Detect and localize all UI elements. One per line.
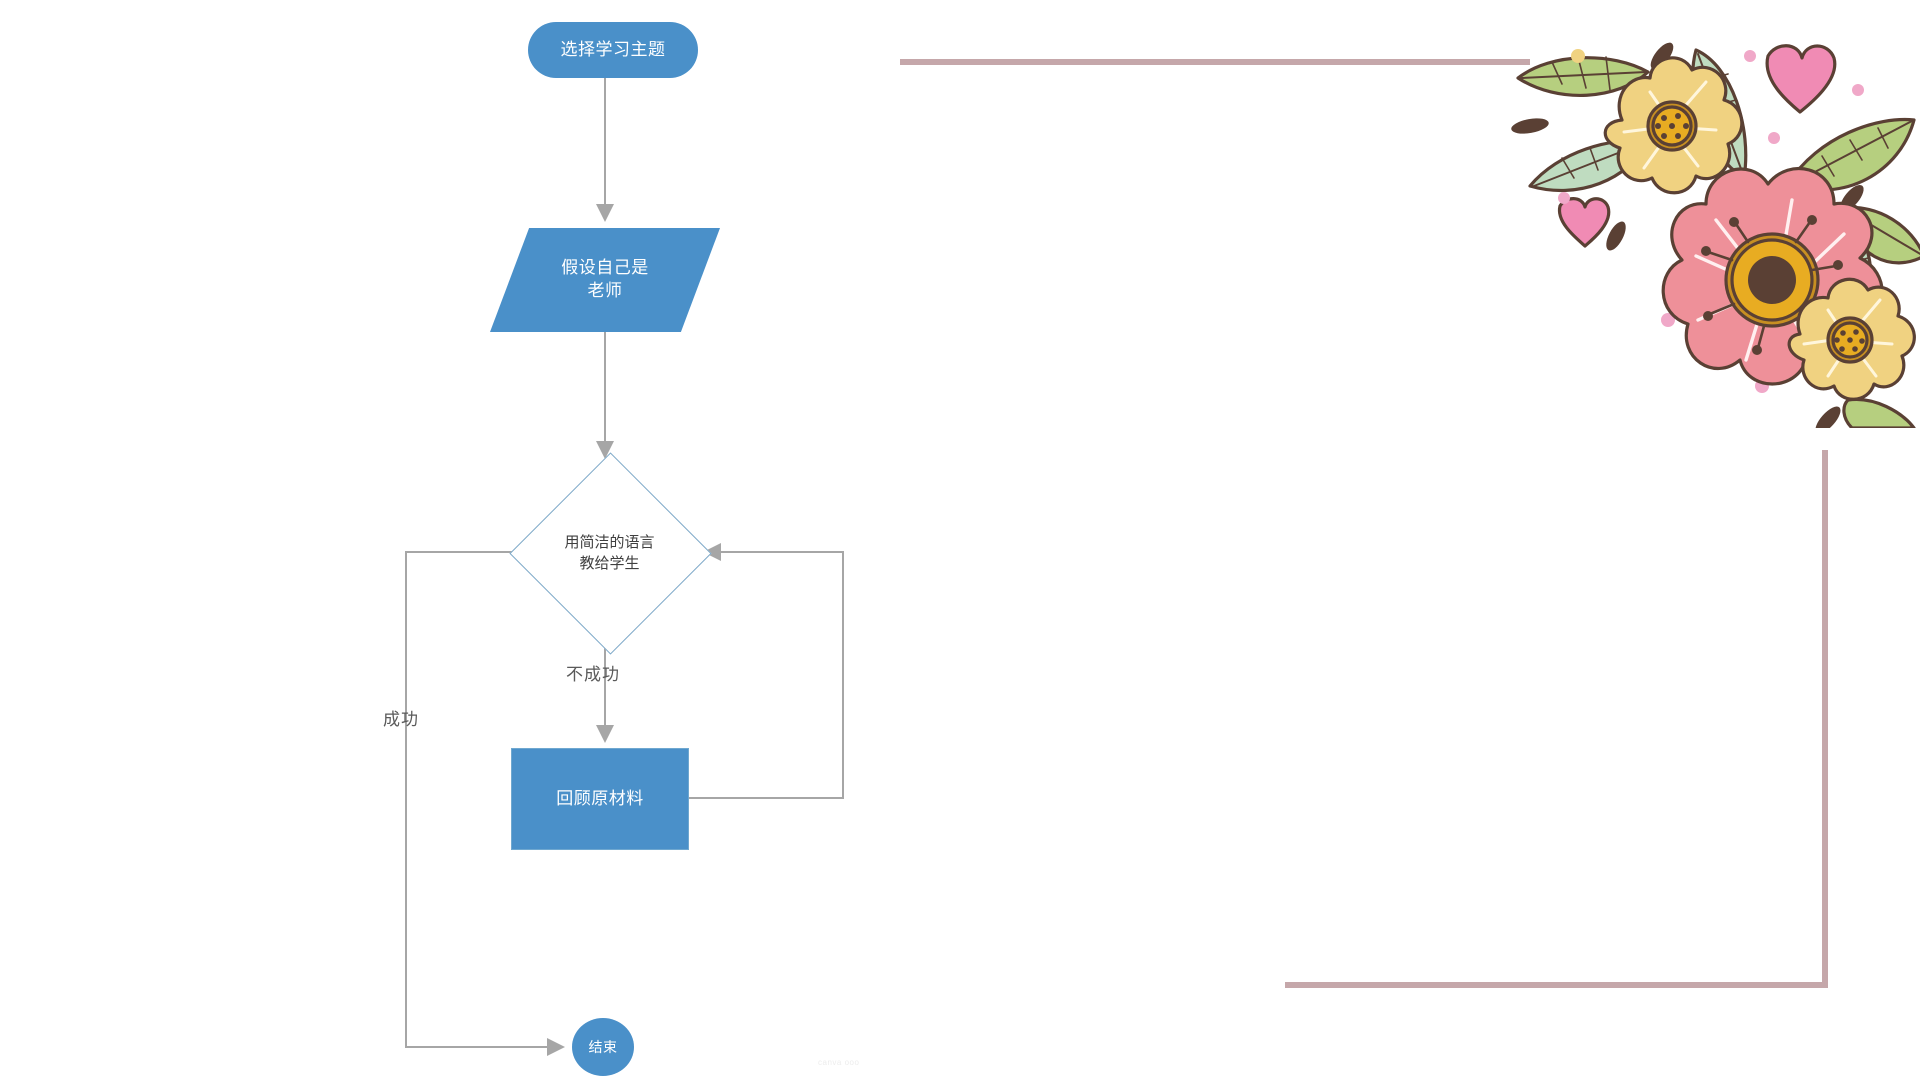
flow-node-end-label: 结束 bbox=[589, 1038, 618, 1057]
flow-node-roleplay-label: 假设自己是 老师 bbox=[561, 257, 649, 303]
flow-node-roleplay-label-wrap: 假设自己是 老师 bbox=[490, 228, 720, 332]
flowchart: 选择学习主题 假设自己是 老师 用简洁的语言 教给学生 回顾原材料 结束 不成功… bbox=[0, 0, 900, 1080]
flow-node-end[interactable]: 结束 bbox=[572, 1018, 634, 1076]
edge-label-success: 成功 bbox=[383, 705, 419, 730]
flow-node-review[interactable]: 回顾原材料 bbox=[511, 748, 689, 850]
flow-node-start-label: 选择学习主题 bbox=[561, 39, 666, 62]
flowchart-connectors bbox=[0, 0, 900, 1080]
watermark-text: canva ooo bbox=[818, 1058, 859, 1067]
edge-review-loop-back bbox=[687, 552, 843, 798]
flow-node-decision-label: 用简洁的语言 教给学生 bbox=[522, 465, 697, 640]
flow-node-review-label: 回顾原材料 bbox=[556, 788, 644, 811]
slide-canvas: 选择学习主题 假设自己是 老师 用简洁的语言 教给学生 回顾原材料 结束 不成功… bbox=[0, 0, 1920, 1080]
floral-corner-ornament bbox=[1500, 8, 1920, 428]
heart-icon bbox=[1767, 46, 1835, 112]
heart-icon bbox=[1559, 199, 1608, 246]
flow-node-start[interactable]: 选择学习主题 bbox=[528, 22, 698, 78]
flow-node-roleplay[interactable]: 假设自己是 老师 bbox=[490, 228, 720, 332]
leaf-icon bbox=[1844, 399, 1914, 428]
flow-node-decision[interactable]: 用简洁的语言 教给学生 bbox=[522, 465, 697, 640]
content-panel: 费曼学习法 主动学习 提升学习的积极性 加强对学习内容的思考 bbox=[900, 0, 1920, 1080]
edge-label-fail: 不成功 bbox=[566, 660, 620, 685]
